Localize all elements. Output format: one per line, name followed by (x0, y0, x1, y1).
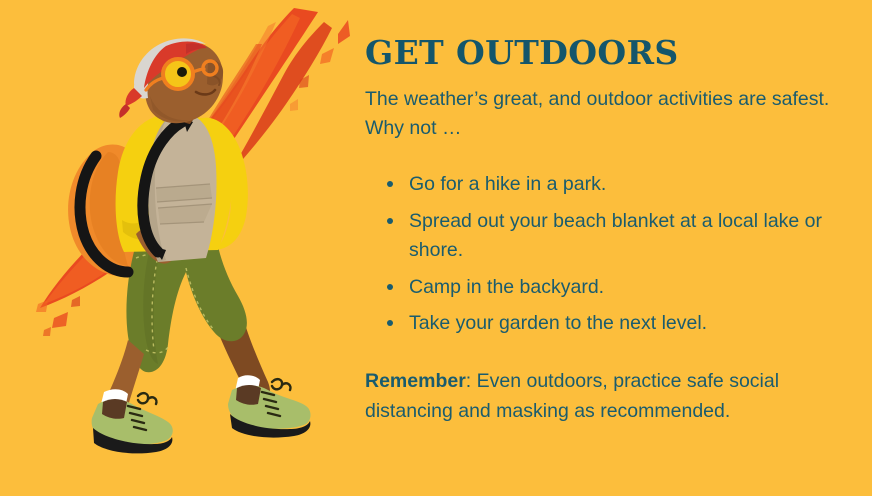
vest (148, 114, 217, 262)
remember-label: Remember (365, 370, 466, 392)
list-item: Spread out your beach blanket at a local… (387, 207, 842, 266)
remember-note: Remember: Even outdoors, practice safe s… (365, 367, 837, 426)
text-column: GET OUTDOORS The weather’s great, and ou… (365, 0, 860, 496)
list-item: Camp in the backyard. (387, 273, 842, 303)
activity-list: Go for a hike in a park. Spread out your… (365, 170, 842, 339)
list-item: Go for a hike in a park. (387, 170, 842, 200)
hiker-illustration (0, 0, 355, 496)
page-title: GET OUTDOORS (365, 36, 842, 71)
poster-canvas: GET OUTDOORS The weather’s great, and ou… (0, 0, 872, 496)
intro-paragraph: The weather’s great, and outdoor activit… (365, 85, 835, 144)
list-item: Take your garden to the next level. (387, 309, 842, 339)
